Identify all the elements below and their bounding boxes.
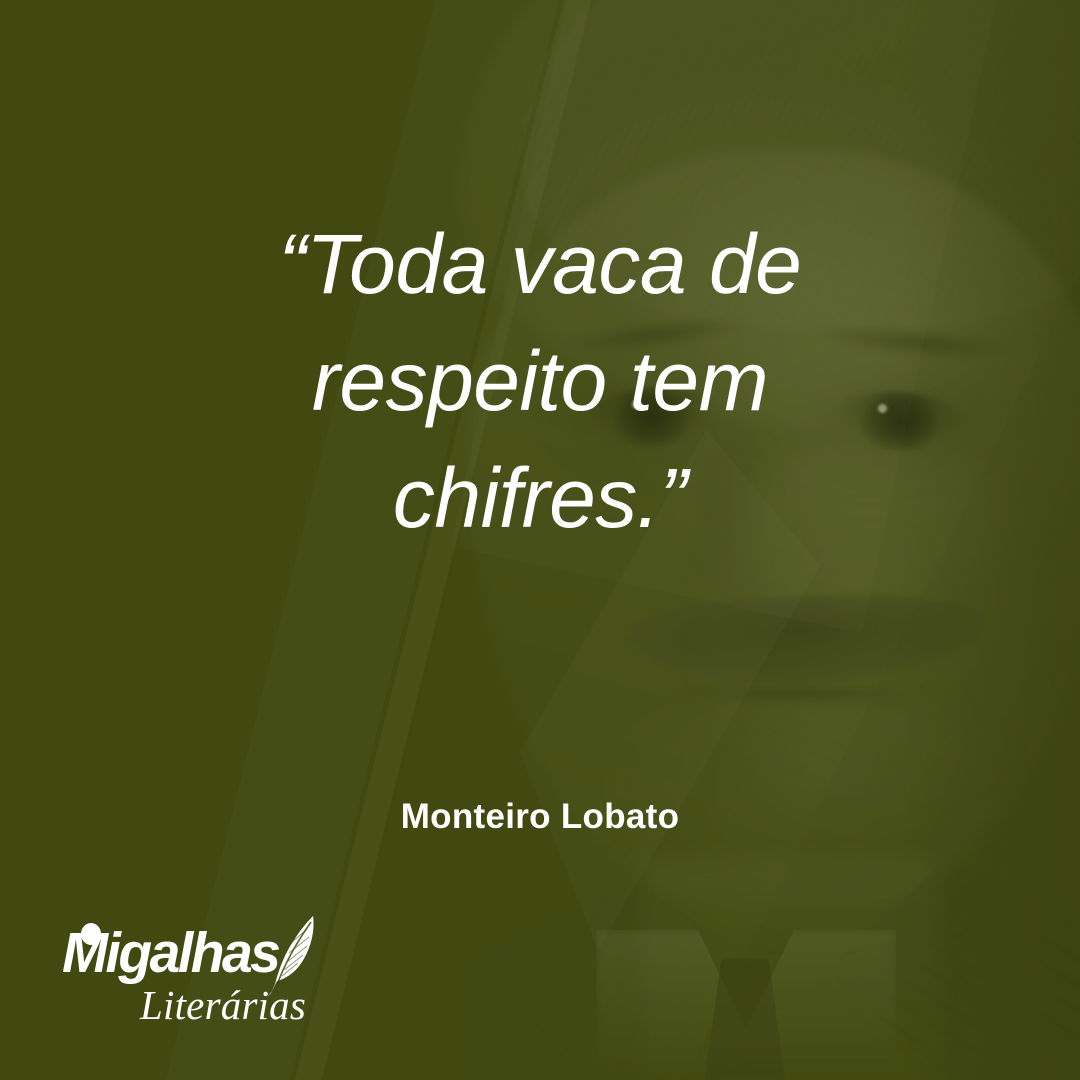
logo-i-dot xyxy=(81,923,101,945)
logo-wordmark-row: Migalhas xyxy=(62,925,332,987)
quote-line-2: respeito tem xyxy=(120,323,960,440)
quote-line-3: chifres.” xyxy=(120,440,960,557)
logo-subbrand-text: Literárias xyxy=(140,983,306,1027)
quote-line-1: “Toda vaca de xyxy=(120,206,960,323)
quote-text: “Toda vaca de respeito tem chifres.” xyxy=(0,206,1080,557)
quote-card: “Toda vaca de respeito tem chifres.” Mon… xyxy=(0,0,1080,1080)
card-content: “Toda vaca de respeito tem chifres.” Mon… xyxy=(0,0,1080,1080)
migalhas-literarias-logo[interactable]: Migalhas Literárias xyxy=(62,925,332,1030)
author-name: Monteiro Lobato xyxy=(0,797,1080,837)
